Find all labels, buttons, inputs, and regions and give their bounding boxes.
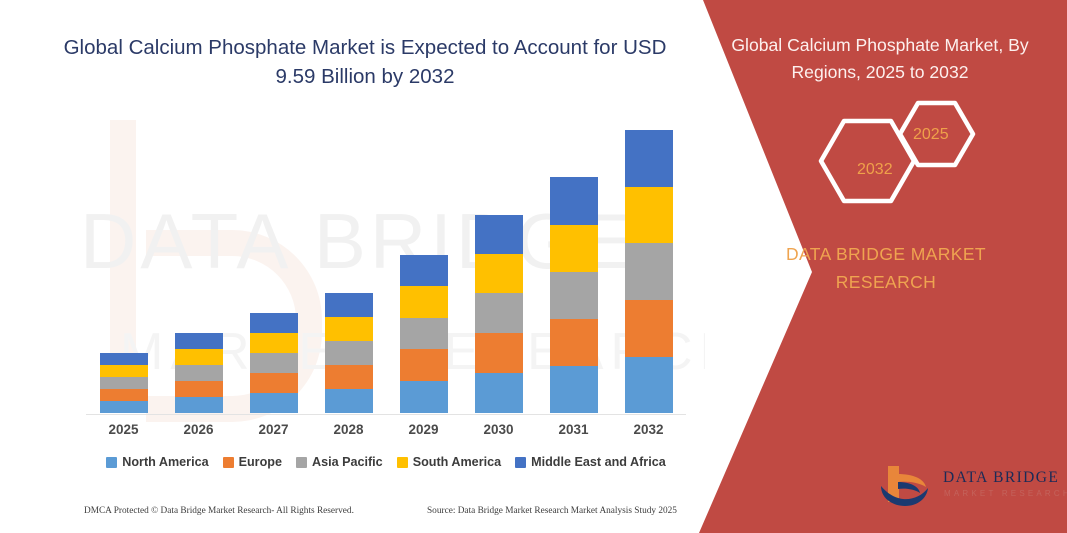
bar-segment: [625, 300, 673, 357]
legend-swatch-icon: [106, 457, 117, 468]
x-axis-label-2027: 2027: [239, 422, 309, 437]
bar-segment: [100, 401, 148, 413]
bar-segment: [475, 215, 523, 254]
legend-item-south-america[interactable]: South America: [397, 455, 501, 469]
bar-2026[interactable]: [175, 333, 223, 413]
x-axis-label-2028: 2028: [314, 422, 384, 437]
bar-segment: [625, 187, 673, 243]
chart-plot-area: [86, 102, 686, 415]
bar-segment: [325, 341, 373, 365]
chart-legend: North AmericaEuropeAsia PacificSouth Ame…: [86, 455, 686, 469]
right-panel-content: Global Calcium Phosphate Market, By Regi…: [705, 0, 1067, 533]
bar-segment: [400, 286, 448, 318]
x-axis-label-2026: 2026: [164, 422, 234, 437]
bar-segment: [325, 293, 373, 317]
legend-swatch-icon: [515, 457, 526, 468]
bar-2029[interactable]: [400, 255, 448, 413]
bar-segment: [550, 225, 598, 272]
footer-dmca-text: DMCA Protected © Data Bridge Market Rese…: [84, 506, 354, 516]
brand-line-2: RESEARCH: [721, 268, 1051, 296]
bar-segment: [250, 313, 298, 333]
bar-segment: [100, 389, 148, 401]
bar-segment: [400, 381, 448, 413]
infographic-root: DATA BRIDGE MARKET RESEARCH Global Calci…: [0, 0, 1067, 533]
chart-x-axis: 20252026202720282029203020312032: [86, 418, 686, 442]
x-axis-label-2032: 2032: [614, 422, 684, 437]
legend-item-europe[interactable]: Europe: [223, 455, 282, 469]
bar-2025[interactable]: [100, 353, 148, 413]
bar-segment: [175, 397, 223, 413]
stacked-bar-chart: [86, 100, 686, 415]
bar-segment: [325, 317, 373, 341]
bar-segment: [100, 365, 148, 377]
bar-segment: [550, 177, 598, 225]
legend-swatch-icon: [397, 457, 408, 468]
x-axis-label-2025: 2025: [89, 422, 159, 437]
hexagon-group: 2032 2025: [705, 98, 1067, 213]
bar-segment: [175, 349, 223, 365]
bar-segment: [475, 293, 523, 333]
bar-segment: [325, 365, 373, 389]
bar-segment: [175, 365, 223, 381]
bar-segment: [325, 389, 373, 413]
bar-segment: [100, 377, 148, 389]
bar-segment: [100, 353, 148, 365]
legend-swatch-icon: [296, 457, 307, 468]
logo-name: DATA BRIDGE: [943, 469, 1059, 487]
bar-segment: [550, 272, 598, 319]
bar-2031[interactable]: [550, 177, 598, 413]
footer: DMCA Protected © Data Bridge Market Rese…: [0, 506, 700, 526]
legend-label: North America: [122, 455, 208, 469]
bar-2027[interactable]: [250, 313, 298, 413]
bar-segment: [625, 357, 673, 413]
bar-segment: [175, 381, 223, 397]
footer-source-text: Source: Data Bridge Market Research Mark…: [427, 506, 677, 516]
legend-label: South America: [413, 455, 501, 469]
page-title: Global Calcium Phosphate Market is Expec…: [60, 33, 670, 91]
legend-label: Middle East and Africa: [531, 455, 666, 469]
data-bridge-logo: DATA BRIDGE MARKET RESEARCH: [878, 462, 1058, 514]
bar-2030[interactable]: [475, 215, 523, 413]
bar-2032[interactable]: [625, 130, 673, 413]
bar-2028[interactable]: [325, 293, 373, 413]
bar-segment: [250, 353, 298, 373]
brand-name-text: DATA BRIDGE MARKET RESEARCH: [721, 240, 1051, 296]
legend-swatch-icon: [223, 457, 234, 468]
x-axis-label-2030: 2030: [464, 422, 534, 437]
legend-item-middle-east-and-africa[interactable]: Middle East and Africa: [515, 455, 666, 469]
logo-tagline: MARKET RESEARCH: [944, 489, 1067, 498]
legend-item-asia-pacific[interactable]: Asia Pacific: [296, 455, 383, 469]
legend-label: Asia Pacific: [312, 455, 383, 469]
x-axis-label-2031: 2031: [539, 422, 609, 437]
logo-mark-icon: [878, 462, 940, 510]
hexagon-2032-label: 2032: [857, 161, 893, 179]
legend-item-north-america[interactable]: North America: [106, 455, 208, 469]
bar-segment: [250, 373, 298, 393]
bar-segment: [550, 366, 598, 413]
bar-segment: [475, 333, 523, 373]
bar-segment: [400, 318, 448, 349]
bar-segment: [625, 130, 673, 187]
legend-label: Europe: [239, 455, 282, 469]
right-panel-title: Global Calcium Phosphate Market, By Regi…: [715, 32, 1045, 86]
bar-segment: [625, 243, 673, 300]
bar-segment: [400, 349, 448, 381]
bar-segment: [175, 333, 223, 349]
bar-segment: [250, 333, 298, 353]
brand-line-1: DATA BRIDGE MARKET: [721, 240, 1051, 268]
bar-segment: [400, 255, 448, 286]
bar-segment: [475, 254, 523, 293]
bar-segment: [550, 319, 598, 366]
hexagon-2025-label: 2025: [913, 126, 949, 144]
x-axis-label-2029: 2029: [389, 422, 459, 437]
bar-segment: [250, 393, 298, 413]
bar-segment: [475, 373, 523, 413]
